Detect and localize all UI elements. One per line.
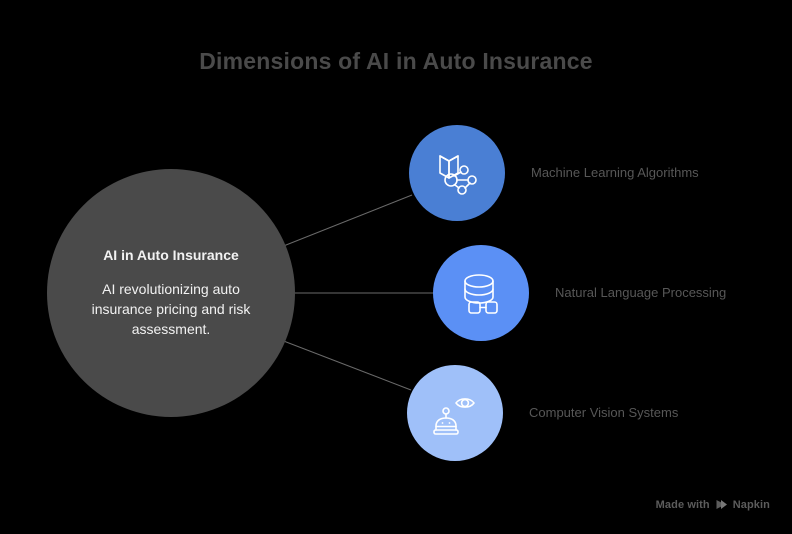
branch-node-label: Machine Learning Algorithms	[531, 163, 721, 183]
database-nodes-icon	[455, 267, 507, 319]
watermark-brand: Napkin	[733, 499, 770, 511]
napkin-watermark[interactable]: Made with Napkin	[656, 498, 770, 511]
branch-node-label: Computer Vision Systems	[529, 403, 719, 423]
branch-node-circle[interactable]	[433, 245, 529, 341]
branch-node-computer-vision[interactable]: Computer Vision Systems	[407, 365, 503, 461]
branch-node-machine-learning[interactable]: Machine Learning Algorithms	[409, 125, 505, 221]
diagram-canvas: Dimensions of AI in Auto Insurance AI in…	[0, 0, 792, 534]
branch-node-circle[interactable]	[407, 365, 503, 461]
connector-hub-to-node-2	[281, 340, 411, 390]
connector-hub-to-node-0	[281, 195, 412, 247]
branch-node-label: Natural Language Processing	[555, 283, 745, 303]
page-title: Dimensions of AI in Auto Insurance	[0, 48, 792, 75]
branch-node-natural-language-processing[interactable]: Natural Language Processing	[433, 245, 529, 341]
napkin-logo-icon	[715, 498, 728, 511]
central-node-title: AI in Auto Insurance	[103, 246, 239, 264]
central-node[interactable]: AI in Auto Insurance AI revolutionizing …	[47, 169, 295, 417]
watermark-prefix: Made with	[656, 499, 710, 511]
robot-eye-icon	[429, 387, 481, 439]
central-node-description: AI revolutionizing auto insurance pricin…	[73, 279, 269, 340]
branch-node-circle[interactable]	[409, 125, 505, 221]
book-network-icon	[431, 147, 483, 199]
